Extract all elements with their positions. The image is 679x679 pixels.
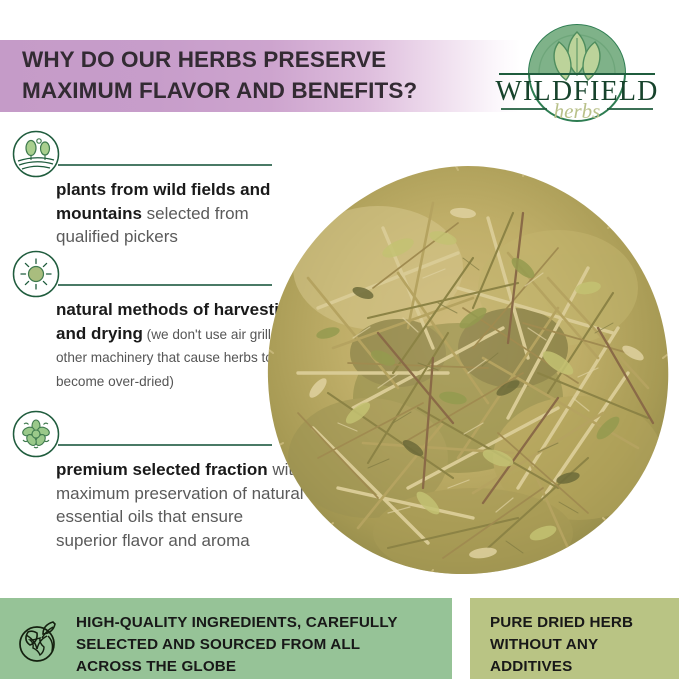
logo-script: herbs [554, 99, 601, 123]
banner-pure-dried-herb: PURE DRIED HERB WITHOUT ANY ADDITIVES [470, 598, 679, 679]
flower-icon [12, 410, 60, 458]
banner-right-text: PURE DRIED HERB WITHOUT ANY ADDITIVES [490, 612, 675, 678]
feature-divider-rule [58, 284, 272, 286]
feature-divider-rule [58, 444, 272, 446]
banner-left-text: HIGH-QUALITY INGREDIENTS, CAREFULLY SELE… [76, 612, 446, 678]
sun-icon [12, 250, 60, 298]
logo-svg: WILDFIELD herbs [487, 18, 667, 128]
dried-herb-pile-photo [258, 158, 678, 583]
page-title: WHY DO OUR HERBS PRESERVE MAXIMUM FLAVOR… [22, 44, 492, 106]
globe-leaf-icon [12, 612, 66, 666]
feature-text-bold: premium selected fraction [56, 460, 268, 479]
feature-divider-rule [58, 164, 272, 166]
infographic-page: WHY DO OUR HERBS PRESERVE MAXIMUM FLAVOR… [0, 0, 679, 679]
brand-logo: WILDFIELD herbs [487, 18, 667, 128]
field-plants-icon [12, 130, 60, 178]
banner-high-quality-ingredients: HIGH-QUALITY INGREDIENTS, CAREFULLY SELE… [0, 598, 452, 679]
